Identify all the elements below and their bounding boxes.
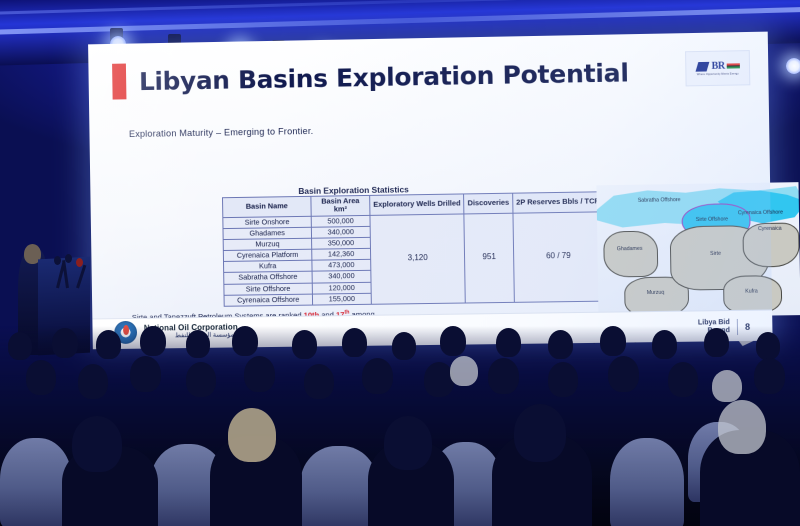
cell-discoveries: 951 [464,213,514,303]
microphone-head-icon [76,258,83,267]
map-label-sirte-offshore: Sirte Offshore [690,217,735,224]
col-basin-area: Basin Area km² [311,195,370,215]
map-label-sabratha-offshore: Sabratha Offshore [635,198,684,205]
spotlight-icon [786,58,800,74]
cell-basin-area: 120,000 [312,282,371,294]
page-title: Libyan Basins Exploration Potential [139,58,629,96]
col-wells-drilled: Exploratory Wells Drilled [370,194,465,215]
audience [0,326,800,526]
cell-basin-area: 340,000 [311,226,370,238]
cell-basin-area: 142,360 [312,248,371,260]
libya-basins-map: Sabratha Offshore Cyrenaica Offshore Sir… [596,182,800,318]
map-label-cyrenaica: Cyrenaica [749,227,792,234]
lbr-swoosh-icon [695,61,709,71]
lbr-logo-tagline: Where Opportunity Meets Energy [697,72,739,76]
microphone-head-icon [54,256,61,265]
ghadames-basin-shape [603,231,658,278]
col-discoveries: Discoveries [464,193,513,213]
map-label-ghadames: Ghadames [607,247,651,254]
lbr-logo-mark-row: BR [695,60,740,72]
slide-header: Libyan Basins Exploration Potential [112,54,629,99]
cell-basin-name: Cyrenaica Offshore [224,294,313,306]
cell-basin-area: 350,000 [312,237,371,249]
map-label-kufra: Kufra [733,289,770,296]
lbr-logo: BR Where Opportunity Meets Energy [685,50,750,86]
cell-basin-area: 500,000 [311,215,370,227]
lbr-logo-text: BR [712,61,725,72]
map-label-sirte: Sirte [698,252,732,258]
cell-wells-drilled: 3,120 [370,214,466,305]
title-accent-bar [112,64,126,100]
cell-basin-area: 340,000 [312,271,371,283]
projection-screen: Libyan Basins Exploration Potential Expl… [88,32,773,350]
map-label-murzuq: Murzuq [634,291,676,298]
cell-basin-area: 155,000 [312,293,371,305]
cell-2p-reserves: 60 / 79 [513,211,604,302]
col-basin-name: Basin Name [222,196,311,217]
slide: Libyan Basins Exploration Potential Expl… [88,32,773,350]
libya-flag-icon [727,63,740,68]
cell-basin-area: 473,000 [312,260,371,272]
slide-subtitle: Exploration Maturity – Emerging to Front… [129,126,314,139]
col-2p-reserves: 2P Reserves Bbls / TCF [513,192,603,213]
conference-stage: Libyan Basins Exploration Potential Expl… [0,0,800,526]
microphone-head-icon [65,254,72,263]
